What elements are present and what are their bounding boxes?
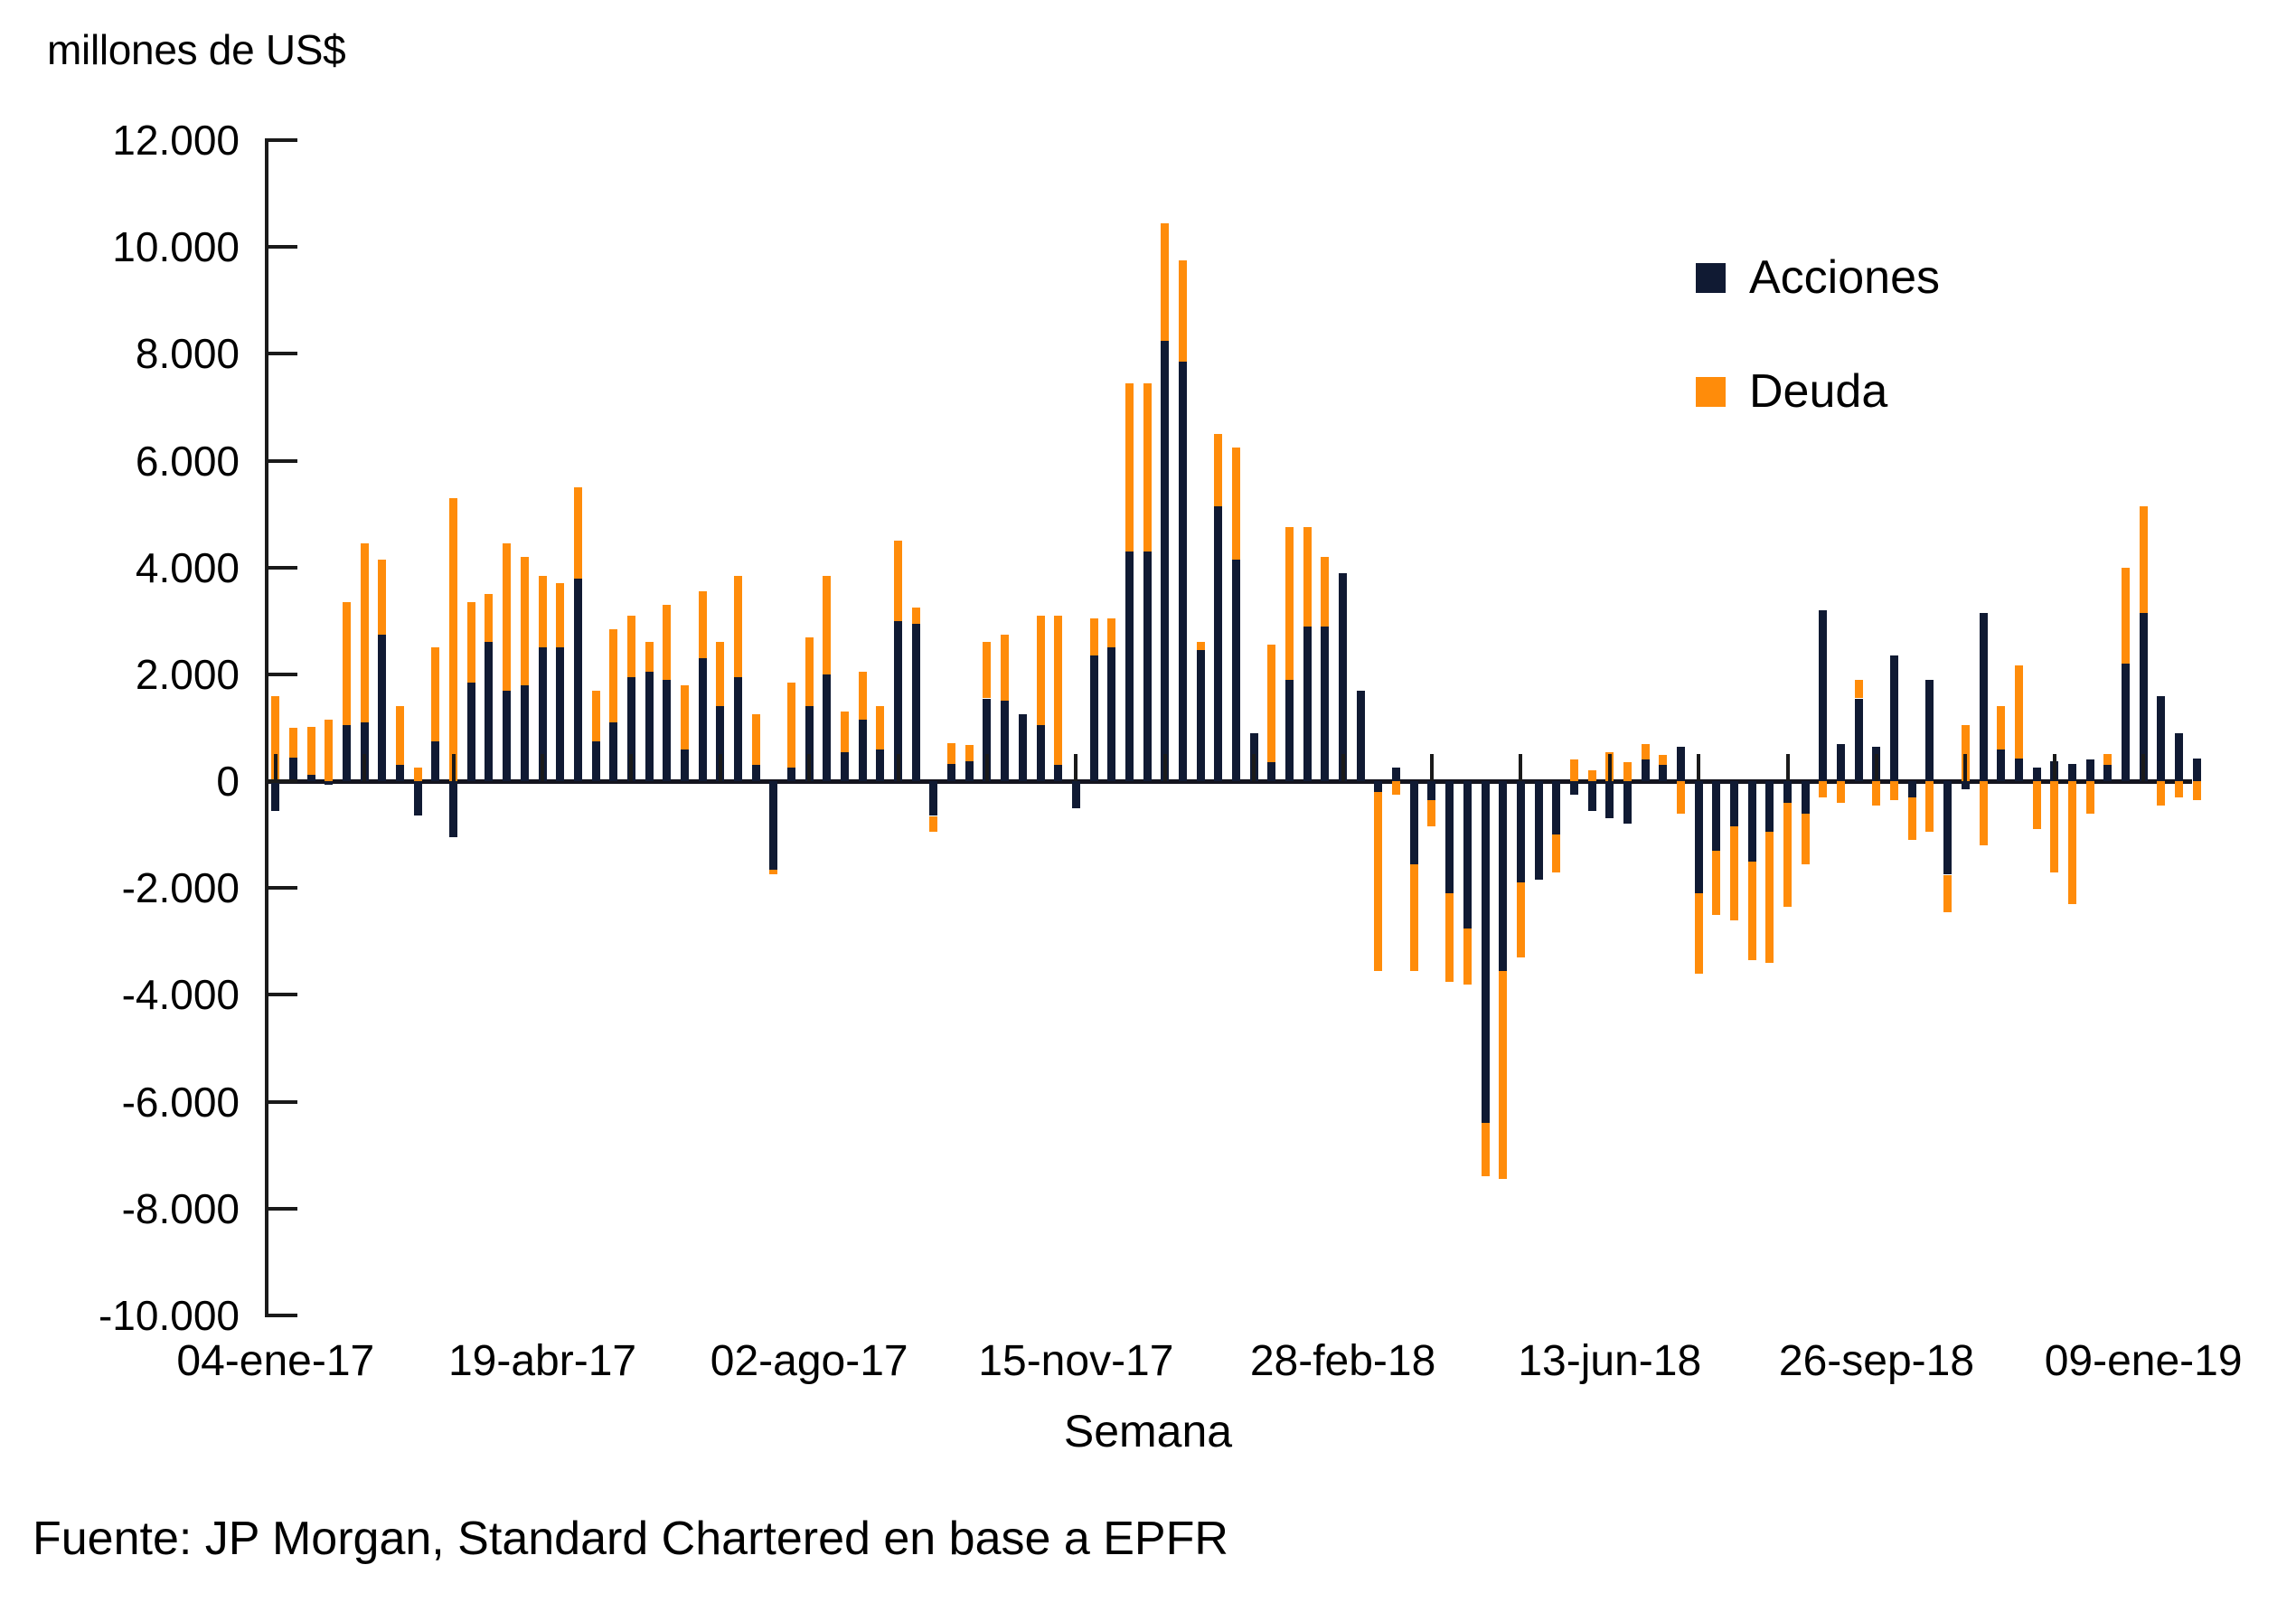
bar-segment-acciones	[1107, 647, 1115, 781]
bar-group[interactable]	[983, 140, 991, 1315]
bar-segment-deuda	[645, 642, 654, 672]
bar-segment-acciones	[1748, 781, 1756, 862]
bar-group[interactable]	[539, 140, 547, 1315]
bar-segment-acciones	[2033, 768, 2041, 781]
y-axis-tick	[265, 1314, 297, 1317]
bar-segment-acciones	[609, 722, 617, 781]
y-axis-tick	[265, 993, 297, 996]
bar-group[interactable]	[1463, 140, 1472, 1315]
bar-segment-acciones	[414, 781, 422, 815]
x-axis-tick	[2141, 754, 2145, 781]
bar-group[interactable]	[609, 140, 617, 1315]
bar-group[interactable]	[1374, 140, 1382, 1315]
bar-group[interactable]	[1214, 140, 1222, 1315]
bar-segment-deuda	[325, 720, 333, 781]
x-axis-tick	[1430, 754, 1434, 781]
bar-group[interactable]	[823, 140, 831, 1315]
bar-segment-acciones	[1232, 560, 1240, 781]
bar-segment-deuda	[1908, 797, 1916, 840]
bar-segment-deuda	[1214, 434, 1222, 506]
x-axis-title: Semana	[0, 1405, 2296, 1457]
bar-segment-acciones	[1730, 781, 1738, 826]
bar-segment-deuda	[787, 683, 795, 768]
bar-segment-acciones	[769, 781, 777, 870]
x-axis-tick-labels: 04-ene-1719-abr-1702-ago-1715-nov-1728-f…	[0, 1336, 2296, 1390]
x-axis-tick	[452, 754, 456, 781]
x-axis-tick	[1341, 754, 1345, 781]
bar-group[interactable]	[1410, 140, 1418, 1315]
bar-segment-deuda	[556, 583, 564, 647]
x-axis-tick	[1163, 754, 1167, 781]
bar-segment-acciones	[289, 758, 297, 782]
bar-group[interactable]	[859, 140, 867, 1315]
legend-item-acciones[interactable]: Acciones	[1696, 253, 1940, 302]
bar-group[interactable]	[271, 140, 279, 1315]
bar-segment-deuda	[681, 685, 689, 749]
bar-group[interactable]	[1357, 140, 1365, 1315]
bar-group[interactable]	[876, 140, 884, 1315]
bar-group[interactable]	[1962, 140, 1970, 1315]
bar-segment-acciones	[965, 761, 974, 781]
bar-segment-acciones	[752, 765, 760, 781]
bar-group[interactable]	[1943, 140, 1952, 1315]
bar-segment-acciones	[1570, 781, 1578, 795]
x-axis-tick	[1697, 754, 1700, 781]
x-axis-tick	[362, 754, 366, 781]
legend-swatch-deuda	[1696, 377, 1726, 407]
bar-group[interactable]	[2157, 140, 2165, 1315]
bar-group[interactable]	[325, 140, 333, 1315]
bar-segment-deuda	[699, 591, 707, 658]
bar-segment-deuda	[1765, 832, 1774, 963]
bar-segment-deuda	[609, 629, 617, 722]
bar-group[interactable]	[1161, 140, 1169, 1315]
bar-segment-acciones	[2086, 759, 2094, 781]
bar-segment-deuda	[1623, 762, 1632, 781]
bar-segment-deuda	[521, 557, 529, 685]
bar-segment-acciones	[1552, 781, 1560, 834]
bar-segment-deuda	[1802, 814, 1810, 864]
bar-group[interactable]	[1267, 140, 1275, 1315]
bar-segment-deuda	[1267, 645, 1275, 762]
bar-segment-deuda	[1712, 851, 1720, 915]
bar-segment-acciones	[2175, 733, 2183, 781]
bar-segment-acciones	[1855, 699, 1863, 782]
x-axis-tick-label: 02-ago-17	[710, 1336, 908, 1386]
bar-group[interactable]	[1107, 140, 1115, 1315]
x-axis-tick	[807, 754, 811, 781]
bar-group[interactable]	[1517, 140, 1525, 1315]
bar-group[interactable]	[414, 140, 422, 1315]
bar-segment-acciones	[645, 672, 654, 781]
bar-segment-deuda	[1303, 527, 1312, 626]
y-axis-tick-label: 6.000	[14, 440, 240, 482]
bar-group[interactable]	[1980, 140, 1988, 1315]
bar-group[interactable]	[1427, 140, 1435, 1315]
bar-group[interactable]	[1499, 140, 1507, 1315]
x-axis-tick	[274, 754, 278, 781]
bar-group[interactable]	[1090, 140, 1098, 1315]
bar-group[interactable]	[396, 140, 404, 1315]
x-axis-tick	[1875, 754, 1878, 781]
bar-group[interactable]	[1054, 140, 1062, 1315]
bar-segment-deuda	[1499, 971, 1507, 1179]
bar-segment-acciones	[1605, 781, 1614, 818]
y-axis-tick	[265, 566, 297, 570]
bar-group[interactable]	[1250, 140, 1258, 1315]
bar-group[interactable]	[752, 140, 760, 1315]
bar-group[interactable]	[841, 140, 849, 1315]
bar-segment-acciones	[556, 647, 564, 781]
bar-segment-acciones	[378, 635, 386, 782]
bar-segment-acciones	[2193, 759, 2201, 781]
bar-segment-deuda	[1837, 781, 1845, 803]
bar-segment-acciones	[876, 749, 884, 781]
bar-group[interactable]	[2033, 140, 2041, 1315]
y-axis-tick-label: -4.000	[14, 974, 240, 1015]
bar-segment-acciones	[1410, 781, 1418, 864]
bar-group[interactable]	[1143, 140, 1152, 1315]
y-axis-tick	[265, 779, 297, 783]
bar-segment-acciones	[1090, 655, 1098, 781]
bar-segment-acciones	[431, 741, 439, 781]
bar-group[interactable]	[1125, 140, 1134, 1315]
bar-group[interactable]	[663, 140, 671, 1315]
bar-segment-deuda	[343, 602, 351, 725]
bar-segment-deuda	[1748, 862, 1756, 960]
bar-segment-acciones	[1179, 362, 1187, 781]
bar-segment-acciones	[1980, 613, 1988, 781]
bar-group[interactable]	[716, 140, 724, 1315]
bar-group[interactable]	[1642, 140, 1650, 1315]
bar-segment-acciones	[592, 741, 600, 781]
bar-segment-deuda	[1570, 759, 1578, 781]
bar-segment-acciones	[1677, 747, 1685, 781]
legend-item-deuda[interactable]: Deuda	[1696, 367, 1940, 416]
bar-segment-deuda	[627, 616, 635, 677]
x-axis-tick	[1519, 754, 1522, 781]
bar-segment-acciones	[449, 781, 457, 837]
bar-group[interactable]	[2140, 140, 2148, 1315]
bar-group[interactable]	[343, 140, 351, 1315]
bar-group[interactable]	[467, 140, 475, 1315]
bar-group[interactable]	[2103, 140, 2112, 1315]
bar-group[interactable]	[1997, 140, 2005, 1315]
bar-segment-acciones	[2015, 759, 2023, 781]
bar-group[interactable]	[361, 140, 369, 1315]
bar-group[interactable]	[627, 140, 635, 1315]
x-axis-tick	[897, 754, 900, 781]
bar-segment-acciones	[1517, 781, 1525, 882]
bar-group[interactable]	[2050, 140, 2058, 1315]
bar-segment-deuda	[289, 728, 297, 758]
bar-group[interactable]	[485, 140, 493, 1315]
x-axis-tick-label: 26-sep-18	[1779, 1336, 1974, 1386]
bar-segment-deuda	[1925, 781, 1934, 832]
bar-group[interactable]	[1588, 140, 1596, 1315]
x-axis-tick-label: 04-ene-17	[176, 1336, 374, 1386]
bar-group[interactable]	[1321, 140, 1329, 1315]
x-axis-tick	[1252, 754, 1256, 781]
bar-segment-acciones	[1019, 714, 1027, 781]
x-axis-tick-label: 19-abr-17	[448, 1336, 636, 1386]
bar-segment-deuda	[965, 745, 974, 761]
bar-group[interactable]	[1019, 140, 1027, 1315]
bar-segment-acciones	[1802, 781, 1810, 813]
bar-segment-deuda	[1819, 781, 1827, 797]
bar-segment-deuda	[539, 576, 547, 648]
y-axis-tick-label: -10.000	[14, 1295, 240, 1336]
bar-segment-deuda	[805, 637, 814, 707]
legend-label-acciones: Acciones	[1749, 254, 1940, 301]
bar-group[interactable]	[769, 140, 777, 1315]
bar-segment-deuda	[2193, 781, 2201, 800]
y-axis-tick-label: -8.000	[14, 1188, 240, 1230]
bar-segment-deuda	[823, 576, 831, 674]
bar-segment-deuda	[1001, 635, 1009, 702]
bar-segment-acciones	[521, 685, 529, 781]
bar-group[interactable]	[1570, 140, 1578, 1315]
bar-group[interactable]	[1482, 140, 1490, 1315]
bar-segment-deuda	[2086, 781, 2094, 813]
bar-segment-deuda	[2157, 781, 2165, 806]
bar-segment-deuda	[307, 727, 315, 775]
bar-group[interactable]	[1677, 140, 1685, 1315]
bar-group[interactable]	[1339, 140, 1347, 1315]
bar-group[interactable]	[2015, 140, 2023, 1315]
bar-segment-deuda	[1197, 642, 1205, 650]
bar-group[interactable]	[947, 140, 955, 1315]
bar-segment-deuda	[2068, 781, 2076, 904]
bar-segment-deuda	[894, 541, 902, 621]
bar-segment-acciones	[1001, 701, 1009, 781]
bar-segment-deuda	[1695, 893, 1703, 974]
bar-segment-acciones	[1819, 610, 1827, 781]
bar-group[interactable]	[787, 140, 795, 1315]
bar-segment-deuda	[2122, 568, 2130, 664]
bar-segment-acciones	[787, 768, 795, 781]
chart-legend: Acciones Deuda	[1696, 253, 1940, 481]
chart-page: millones de US$ 12.00010.0008.0006.0004.…	[0, 0, 2296, 1612]
bar-group[interactable]	[1303, 140, 1312, 1315]
bar-segment-acciones	[1072, 781, 1080, 808]
bar-group[interactable]	[307, 140, 315, 1315]
bar-segment-deuda	[841, 712, 849, 751]
bar-segment-acciones	[1197, 650, 1205, 781]
x-axis-tick-label: 09-ene-19	[2045, 1336, 2243, 1386]
y-axis-tick-label: 2.000	[14, 654, 240, 695]
bar-segment-acciones	[1535, 781, 1543, 880]
bar-segment-deuda	[1054, 616, 1062, 765]
bar-segment-acciones	[485, 642, 493, 781]
bar-segment-deuda	[859, 672, 867, 720]
bar-group[interactable]	[2193, 140, 2201, 1315]
bar-segment-acciones	[1962, 781, 1970, 789]
bar-segment-acciones	[574, 579, 582, 782]
bar-segment-acciones	[1037, 725, 1045, 781]
bar-segment-deuda	[2050, 781, 2058, 872]
y-axis-tick	[265, 886, 297, 890]
bar-group[interactable]	[1552, 140, 1560, 1315]
bar-group[interactable]	[503, 140, 511, 1315]
bar-segment-deuda	[929, 816, 937, 833]
y-axis-tick	[265, 1207, 297, 1211]
bar-segment-acciones	[1943, 781, 1952, 874]
bar-group[interactable]	[378, 140, 386, 1315]
bar-segment-deuda	[1161, 223, 1169, 341]
bar-segment-deuda	[1517, 882, 1525, 957]
legend-swatch-acciones	[1696, 263, 1726, 293]
bar-group[interactable]	[592, 140, 600, 1315]
x-axis-tick	[985, 754, 989, 781]
bar-group[interactable]	[1535, 140, 1543, 1315]
bar-group[interactable]	[912, 140, 920, 1315]
bar-group[interactable]	[1392, 140, 1400, 1315]
bar-segment-acciones	[2068, 764, 2076, 781]
x-axis-tick	[1608, 754, 1612, 781]
bar-group[interactable]	[1659, 140, 1667, 1315]
bar-segment-deuda	[983, 642, 991, 698]
y-axis-tick	[265, 352, 297, 355]
bar-segment-deuda	[378, 560, 386, 635]
bar-segment-acciones	[859, 720, 867, 781]
source-note: Fuente: JP Morgan, Standard Chartered en…	[33, 1512, 1228, 1566]
bar-group[interactable]	[699, 140, 707, 1315]
y-axis-tick-label: 4.000	[14, 547, 240, 589]
x-axis-tick-label: 15-nov-17	[978, 1336, 1173, 1386]
bar-group[interactable]	[929, 140, 937, 1315]
bar-segment-acciones	[1890, 655, 1898, 781]
bar-segment-deuda	[1552, 834, 1560, 872]
bar-group[interactable]	[894, 140, 902, 1315]
y-axis-tick-label: 8.000	[14, 333, 240, 374]
y-axis-tick-label: 12.000	[14, 119, 240, 161]
bar-group[interactable]	[1197, 140, 1205, 1315]
bar-segment-deuda	[2015, 665, 2023, 759]
bar-segment-acciones	[1267, 762, 1275, 781]
bar-segment-deuda	[2140, 506, 2148, 613]
bar-segment-deuda	[1980, 781, 1988, 845]
bar-group[interactable]	[1623, 140, 1632, 1315]
x-axis-tick-label: 28-feb-18	[1250, 1336, 1435, 1386]
bar-segment-acciones	[1765, 781, 1774, 832]
bar-segment-deuda	[1463, 929, 1472, 985]
bar-segment-acciones	[1783, 781, 1792, 803]
bar-segment-deuda	[1890, 781, 1898, 800]
bar-group[interactable]	[1285, 140, 1294, 1315]
bar-segment-acciones	[467, 683, 475, 781]
bar-group[interactable]	[556, 140, 564, 1315]
y-axis-tick-label: 10.000	[14, 226, 240, 268]
x-axis-tick	[1786, 754, 1790, 781]
bar-segment-deuda	[2103, 754, 2112, 765]
x-axis-tick	[541, 754, 544, 781]
bar-group[interactable]	[2086, 140, 2094, 1315]
bar-segment-deuda	[503, 543, 511, 691]
bar-segment-deuda	[912, 608, 920, 624]
bar-group[interactable]	[734, 140, 742, 1315]
y-axis-tick	[265, 459, 297, 463]
bar-segment-acciones	[1125, 551, 1134, 781]
bar-segment-deuda	[1783, 803, 1792, 907]
bar-segment-deuda	[449, 498, 457, 781]
bar-segment-acciones	[1357, 691, 1365, 781]
bar-group[interactable]	[645, 140, 654, 1315]
bar-group[interactable]	[1072, 140, 1080, 1315]
bar-group[interactable]	[2175, 140, 2183, 1315]
bar-segment-deuda	[414, 768, 422, 781]
bar-segment-acciones	[2122, 664, 2130, 781]
bar-group[interactable]	[1179, 140, 1187, 1315]
bar-segment-deuda	[1482, 1123, 1490, 1176]
bar-segment-acciones	[663, 680, 671, 781]
bar-segment-deuda	[1392, 781, 1400, 795]
bar-segment-acciones	[1214, 506, 1222, 781]
bar-segment-deuda	[574, 487, 582, 578]
bar-segment-acciones	[1837, 744, 1845, 781]
bar-segment-acciones	[1712, 781, 1720, 851]
bar-segment-deuda	[876, 706, 884, 749]
bar-group[interactable]	[681, 140, 689, 1315]
bar-segment-deuda	[1642, 744, 1650, 760]
bar-segment-deuda	[1374, 792, 1382, 971]
bar-segment-acciones	[325, 781, 333, 785]
x-axis-tick	[1963, 754, 1967, 781]
x-axis-tick	[1074, 754, 1077, 781]
bar-group[interactable]	[1445, 140, 1454, 1315]
y-axis-tick-label: -6.000	[14, 1081, 240, 1123]
bar-group[interactable]	[1037, 140, 1045, 1315]
bar-segment-deuda	[1872, 781, 1880, 806]
bar-segment-deuda	[1659, 755, 1667, 766]
bar-segment-deuda	[1677, 781, 1685, 813]
bar-segment-acciones	[1642, 759, 1650, 781]
bar-segment-deuda	[592, 691, 600, 741]
bar-group[interactable]	[289, 140, 297, 1315]
y-axis-tick-label: 0	[14, 760, 240, 802]
bar-segment-acciones	[947, 764, 955, 781]
bar-segment-acciones	[1143, 551, 1152, 781]
bar-segment-deuda	[1125, 383, 1134, 551]
bar-segment-acciones	[1339, 573, 1347, 781]
bar-segment-deuda	[2175, 781, 2183, 797]
bar-segment-acciones	[343, 725, 351, 781]
bar-segment-acciones	[1321, 627, 1329, 781]
bar-segment-acciones	[1695, 781, 1703, 893]
bar-segment-acciones	[1925, 680, 1934, 781]
bar-group[interactable]	[1605, 140, 1614, 1315]
bar-group[interactable]	[805, 140, 814, 1315]
bar-group[interactable]	[2122, 140, 2130, 1315]
bar-group[interactable]	[431, 140, 439, 1315]
bar-group[interactable]	[2068, 140, 2076, 1315]
bar-segment-acciones	[823, 674, 831, 781]
bar-group[interactable]	[521, 140, 529, 1315]
bar-segment-deuda	[1037, 616, 1045, 725]
bar-group[interactable]	[1232, 140, 1240, 1315]
bar-segment-acciones	[1054, 765, 1062, 781]
bar-segment-deuda	[1285, 527, 1294, 679]
bar-group[interactable]	[1001, 140, 1009, 1315]
bar-group[interactable]	[574, 140, 582, 1315]
bar-segment-deuda	[1730, 826, 1738, 919]
bar-group[interactable]	[449, 140, 457, 1315]
bar-group[interactable]	[965, 140, 974, 1315]
bar-segment-acciones	[1482, 781, 1490, 1123]
bar-segment-acciones	[396, 765, 404, 781]
bar-segment-deuda	[1090, 618, 1098, 655]
bar-segment-deuda	[716, 642, 724, 706]
